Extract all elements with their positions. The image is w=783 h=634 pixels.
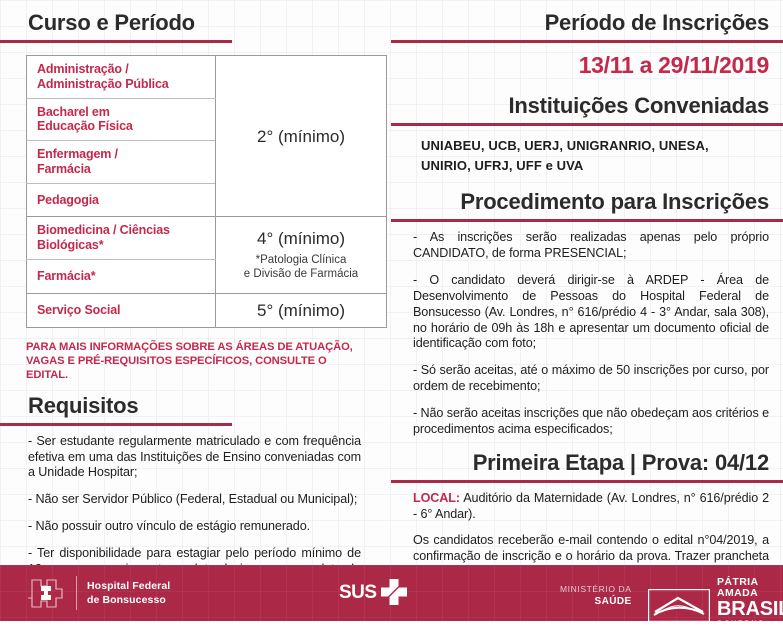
procedimento-item: - As inscrições serão realizadas apenas … bbox=[413, 230, 769, 262]
edital-notice-line: PARA MAIS INFORMAÇÕES SOBRE AS ÁREAS DE … bbox=[26, 341, 353, 353]
section-title-primeira-etapa: Primeira Etapa | Prova: 04/12 bbox=[391, 452, 783, 480]
prova-local: LOCAL: Auditório da Maternidade (Av. Lon… bbox=[413, 491, 769, 523]
course-cell-pedagogia: Pedagogia bbox=[27, 183, 216, 217]
procedimento-list: - As inscrições serão realizadas apenas … bbox=[391, 230, 783, 437]
patria-line: PÁTRIA AMADA bbox=[717, 577, 783, 598]
patria-amada-text: PÁTRIA AMADA BRASIL GOVERNO FEDERAL bbox=[717, 577, 783, 634]
table-row: Administração / Administração Pública 2°… bbox=[27, 56, 387, 99]
hospital-name: Hospital Federal de Bonsucesso bbox=[87, 579, 170, 607]
inscription-dates: 13/11 a 29/11/2019 bbox=[391, 43, 783, 79]
procedimento-item: - Não serão aceitas inscrições que não o… bbox=[413, 406, 769, 438]
section-rule bbox=[391, 219, 783, 222]
poster-canvas: Curso e Período Administração / Administ… bbox=[0, 0, 783, 621]
course-line: Enfermagem / bbox=[37, 147, 118, 161]
instituicoes-line: UNIRIO, UFRJ, UFF e UVA bbox=[421, 158, 583, 173]
requisito-item: - Não ser Servidor Público (Federal, Est… bbox=[28, 492, 361, 508]
period-cell-5: 5° (mínimo) bbox=[216, 293, 387, 327]
right-column: Período de Inscrições 13/11 a 29/11/2019… bbox=[391, 0, 783, 565]
sus-logo: SUS bbox=[339, 578, 409, 608]
brasil-emblem-icon bbox=[648, 589, 710, 622]
edital-notice: PARA MAIS INFORMAÇÕES SOBRE AS ÁREAS DE … bbox=[26, 340, 366, 383]
content-columns: Curso e Período Administração / Administ… bbox=[0, 0, 783, 565]
section-title-curso-periodo: Curso e Período bbox=[0, 12, 377, 40]
course-cell-servico-social: Serviço Social bbox=[27, 293, 216, 327]
period-note: *Patologia Clínica e Divisão de Farmácia bbox=[220, 253, 382, 282]
course-line: Bacharel em bbox=[37, 105, 110, 119]
logo-divider bbox=[76, 576, 77, 610]
period-cell-2: 2° (mínimo) bbox=[216, 56, 387, 217]
section-procedimento: Procedimento para Inscrições bbox=[391, 191, 783, 222]
section-rule bbox=[391, 40, 783, 43]
procedimento-item: - Só serão aceitas, até o máximo de 50 i… bbox=[413, 363, 769, 395]
local-text: Auditório da Maternidade (Av. Londres, n… bbox=[413, 491, 769, 521]
ministerio-line: MINISTÉRIO DA bbox=[560, 584, 632, 594]
section-title-procedimento: Procedimento para Inscrições bbox=[391, 191, 783, 219]
course-cell-educacao-fisica: Bacharel em Educação Física bbox=[27, 98, 216, 141]
table-row: Serviço Social 5° (mínimo) bbox=[27, 293, 387, 327]
hospital-name-line: Hospital Federal bbox=[87, 579, 170, 593]
section-rule bbox=[391, 123, 783, 126]
hospital-federal-logo: Hospital Federal de Bonsucesso bbox=[28, 573, 170, 613]
footer-bar: Hospital Federal de Bonsucesso SUS MINIS… bbox=[0, 565, 783, 621]
course-line: Educação Física bbox=[37, 119, 133, 133]
table-row: Biomedicina / Ciências Biológicas* 4° (m… bbox=[27, 217, 387, 260]
courses-table: Administração / Administração Pública 2°… bbox=[26, 55, 387, 328]
period-value: 4° (mínimo) bbox=[257, 229, 345, 248]
section-periodo-inscricoes: Período de Inscrições bbox=[391, 12, 783, 43]
procedimento-item: - O candidato deverá dirigir-se à ARDEP … bbox=[413, 273, 769, 352]
period-note-line: *Patologia Clínica bbox=[256, 254, 347, 266]
section-primeira-etapa: Primeira Etapa | Prova: 04/12 bbox=[391, 452, 783, 483]
section-requisitos: Requisitos bbox=[0, 395, 377, 426]
patria-amada-brasil-logo: PÁTRIA AMADA BRASIL GOVERNO FEDERAL bbox=[648, 577, 783, 634]
course-line: Biomedicina / Ciências bbox=[37, 223, 170, 237]
instituicoes-list: UNIABEU, UCB, UERJ, UNIGRANRIO, UNESA, U… bbox=[391, 126, 783, 176]
course-cell-administracao: Administração / Administração Pública bbox=[27, 56, 216, 99]
section-title-requisitos: Requisitos bbox=[0, 395, 377, 423]
course-line: Administração Pública bbox=[37, 77, 169, 91]
hospital-name-line: de Bonsucesso bbox=[87, 593, 170, 607]
left-column: Curso e Período Administração / Administ… bbox=[0, 0, 391, 565]
course-line: Farmácia bbox=[37, 162, 91, 176]
course-cell-biomedicina: Biomedicina / Ciências Biológicas* bbox=[27, 217, 216, 260]
requisito-item: - Ser estudante regularmente matriculado… bbox=[28, 434, 361, 482]
section-curso-periodo: Curso e Período bbox=[0, 12, 377, 43]
section-instituicoes: Instituições Conveniadas bbox=[391, 95, 783, 126]
section-title-instituicoes: Instituições Conveniadas bbox=[391, 95, 783, 123]
sus-cross-icon bbox=[379, 578, 409, 608]
section-rule bbox=[0, 423, 232, 426]
instituicoes-line: UNIABEU, UCB, UERJ, UNIGRANRIO, UNESA, bbox=[421, 138, 709, 153]
local-label: LOCAL: bbox=[413, 491, 460, 505]
course-line: Biológicas* bbox=[37, 238, 103, 252]
hospital-building-icon bbox=[28, 574, 66, 612]
period-cell-4: 4° (mínimo) *Patologia Clínica e Divisão… bbox=[216, 217, 387, 293]
requisito-item: - Não possuir outro vínculo de estágio r… bbox=[28, 519, 361, 535]
period-note-line: e Divisão de Farmácia bbox=[244, 268, 358, 280]
patria-line: BRASIL bbox=[717, 599, 783, 619]
course-line: Administração / bbox=[37, 62, 129, 76]
ministerio-saude-logo: MINISTÉRIO DA SAÚDE bbox=[560, 584, 632, 608]
ministerio-line: SAÚDE bbox=[560, 595, 632, 608]
sus-label: SUS bbox=[339, 582, 377, 604]
course-cell-enfermagem-farmacia: Enfermagem / Farmácia bbox=[27, 141, 216, 184]
section-rule bbox=[0, 40, 232, 43]
course-cell-farmacia: Farmácia* bbox=[27, 259, 216, 293]
edital-notice-line: VAGAS E PRÉ-REQUISITOS ESPECÍFICOS, CONS… bbox=[26, 355, 327, 381]
section-title-periodo-inscricoes: Período de Inscrições bbox=[391, 12, 783, 40]
section-rule bbox=[391, 480, 783, 483]
patria-line: GOVERNO FEDERAL bbox=[717, 621, 783, 634]
courses-table-wrapper: Administração / Administração Pública 2°… bbox=[26, 55, 360, 328]
